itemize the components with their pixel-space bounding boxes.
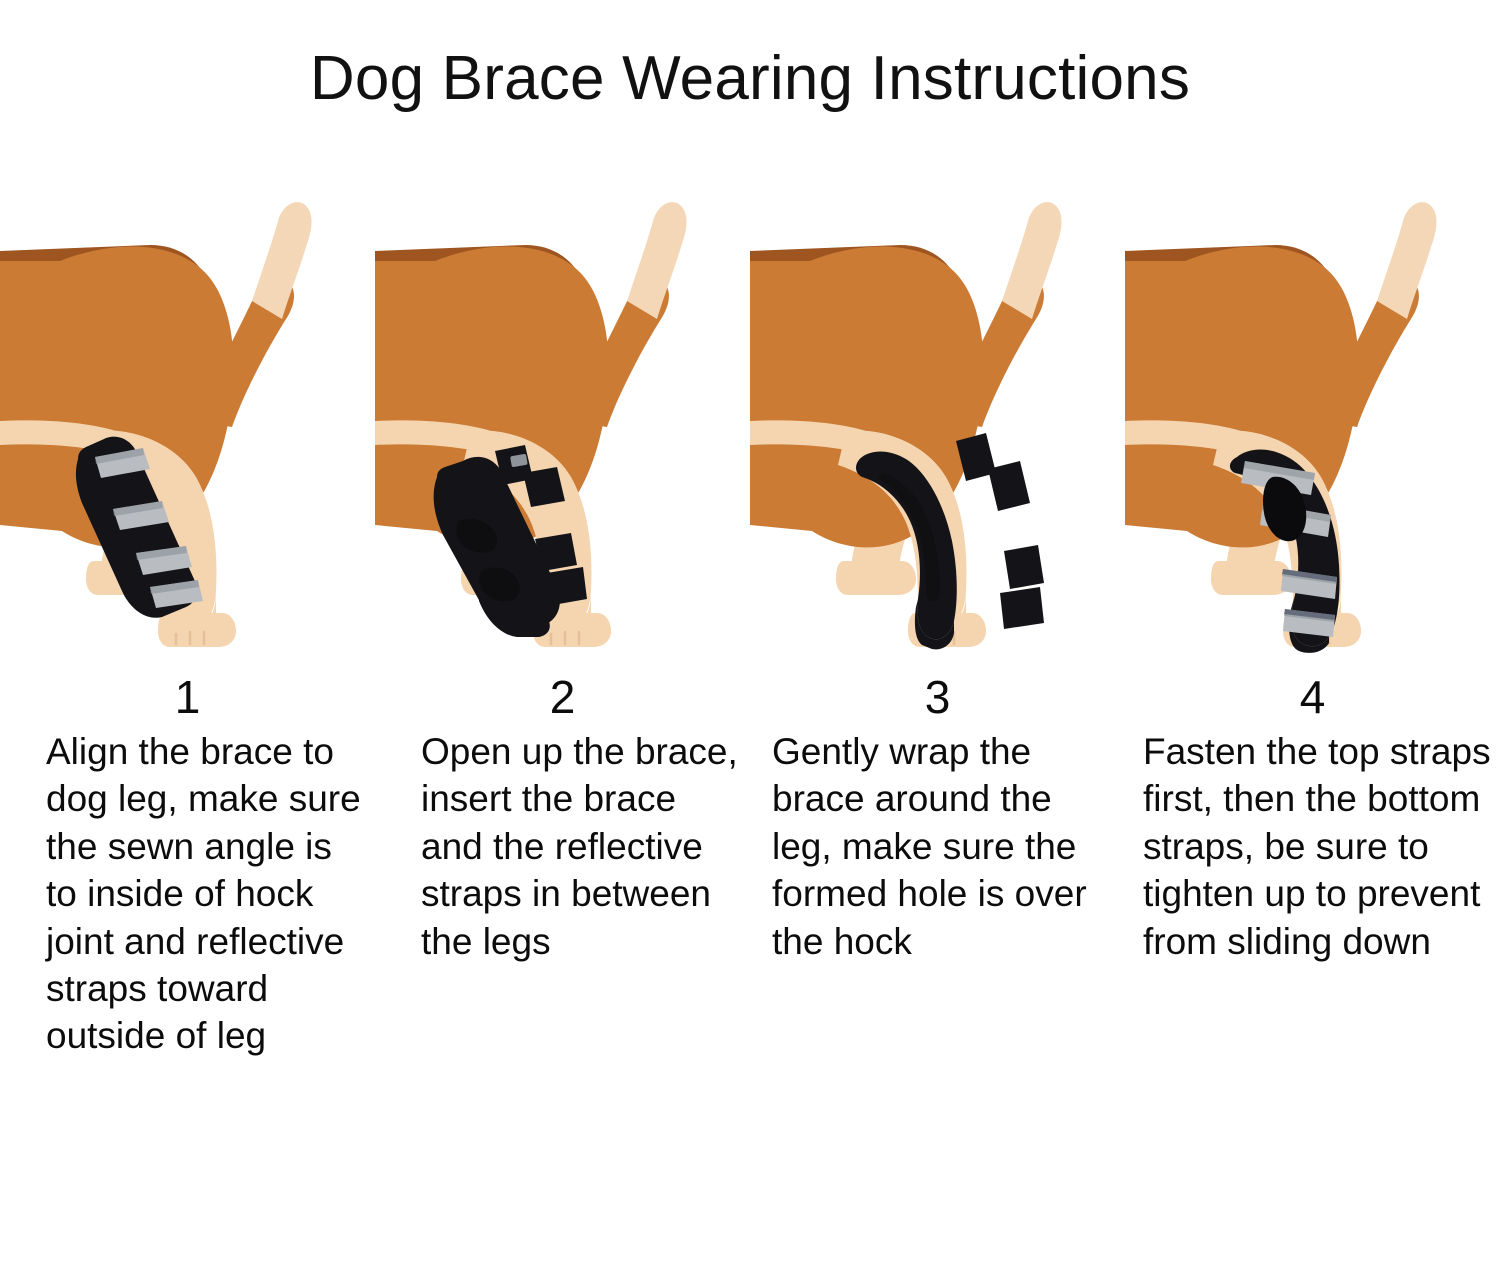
- dog-illustration-step-1: [0, 121, 375, 666]
- instruction-step-3: 3 Gently wrap the brace around the leg, …: [750, 121, 1125, 1060]
- dog-with-brace-fastened-icon: [1125, 121, 1500, 666]
- dog-with-brace-opened-icon: [375, 121, 750, 666]
- dog-illustration-step-2: [375, 121, 750, 666]
- step-number-3: 3: [750, 666, 1125, 728]
- brace-loose-straps-step-3: [956, 433, 1044, 629]
- step-text-1: Align the brace to dog leg, make sure th…: [0, 728, 375, 1060]
- instruction-step-4: 4 Fasten the top straps first, then the …: [1125, 121, 1500, 1060]
- instruction-panels: 1 Align the brace to dog leg, make sure …: [0, 121, 1500, 1060]
- dog-illustration-step-3: [750, 121, 1125, 666]
- dog-with-brace-beside-leg-icon: [0, 121, 375, 666]
- instruction-step-2: 2 Open up the brace, insert the brace an…: [375, 121, 750, 1060]
- page-title: Dog Brace Wearing Instructions: [0, 0, 1500, 111]
- step-text-4: Fasten the top straps first, then the bo…: [1125, 728, 1500, 965]
- step-number-2: 2: [375, 666, 750, 728]
- instruction-step-1: 1 Align the brace to dog leg, make sure …: [0, 121, 375, 1060]
- step-number-1: 1: [0, 666, 375, 728]
- step-text-2: Open up the brace, insert the brace and …: [375, 728, 750, 965]
- step-number-4: 4: [1125, 666, 1500, 728]
- dog-with-brace-wrapped-icon: [750, 121, 1125, 666]
- step-text-3: Gently wrap the brace around the leg, ma…: [750, 728, 1125, 965]
- dog-illustration-step-4: [1125, 121, 1500, 666]
